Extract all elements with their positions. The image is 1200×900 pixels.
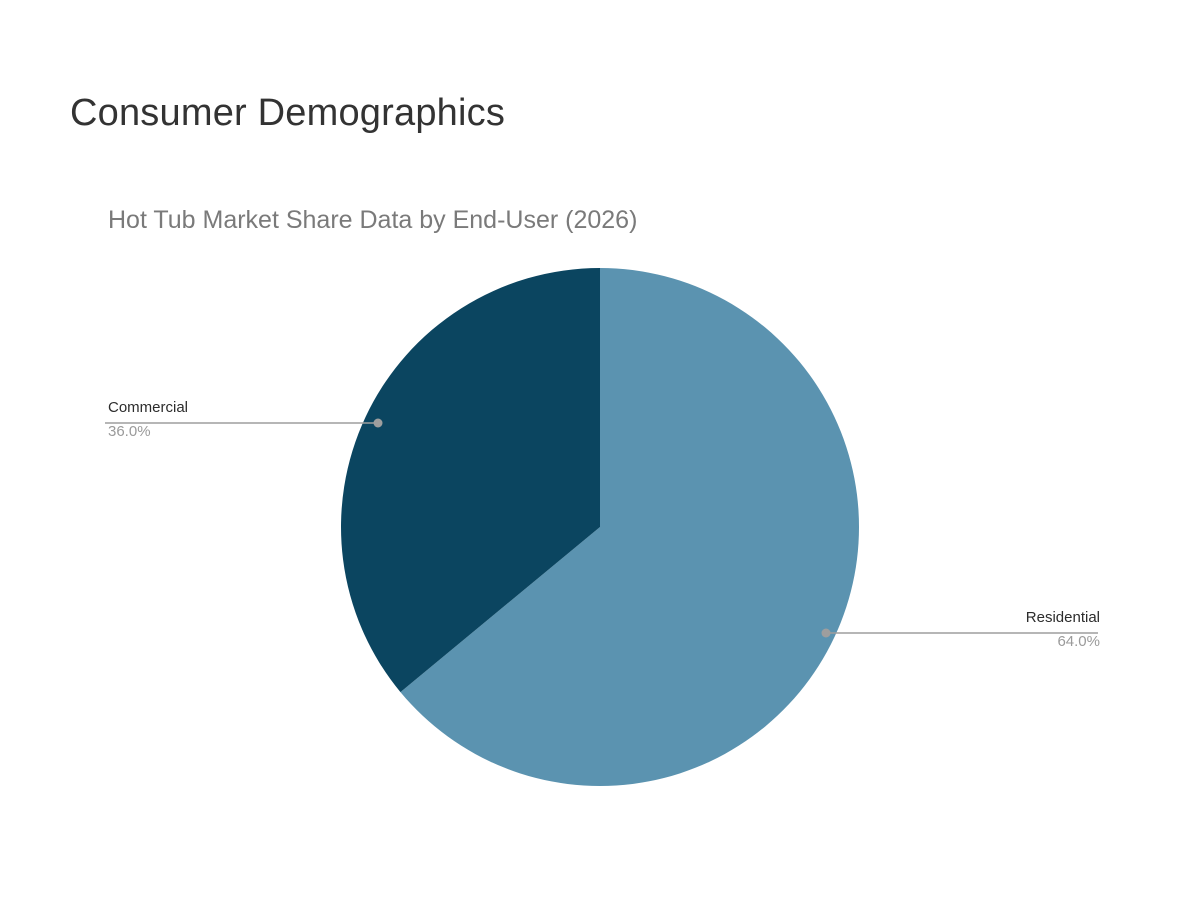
pie-label-commercial-category: Commercial bbox=[108, 400, 188, 415]
pie-label-residential-percent: 64.0% bbox=[1026, 634, 1100, 649]
pie-chart-plot-area: Commercial 36.0% Residential 64.0% bbox=[0, 0, 1200, 900]
pie-label-residential-category: Residential bbox=[1026, 610, 1100, 625]
pie-label-commercial-percent: 36.0% bbox=[108, 424, 188, 439]
leader-dot-residential bbox=[822, 629, 831, 638]
pie-label-commercial: Commercial 36.0% bbox=[108, 400, 188, 439]
chart-page: Consumer Demographics Hot Tub Market Sha… bbox=[0, 0, 1200, 900]
pie-chart-svg bbox=[0, 0, 1200, 900]
leader-dot-commercial bbox=[374, 419, 383, 428]
pie-label-residential: Residential 64.0% bbox=[1026, 610, 1100, 649]
